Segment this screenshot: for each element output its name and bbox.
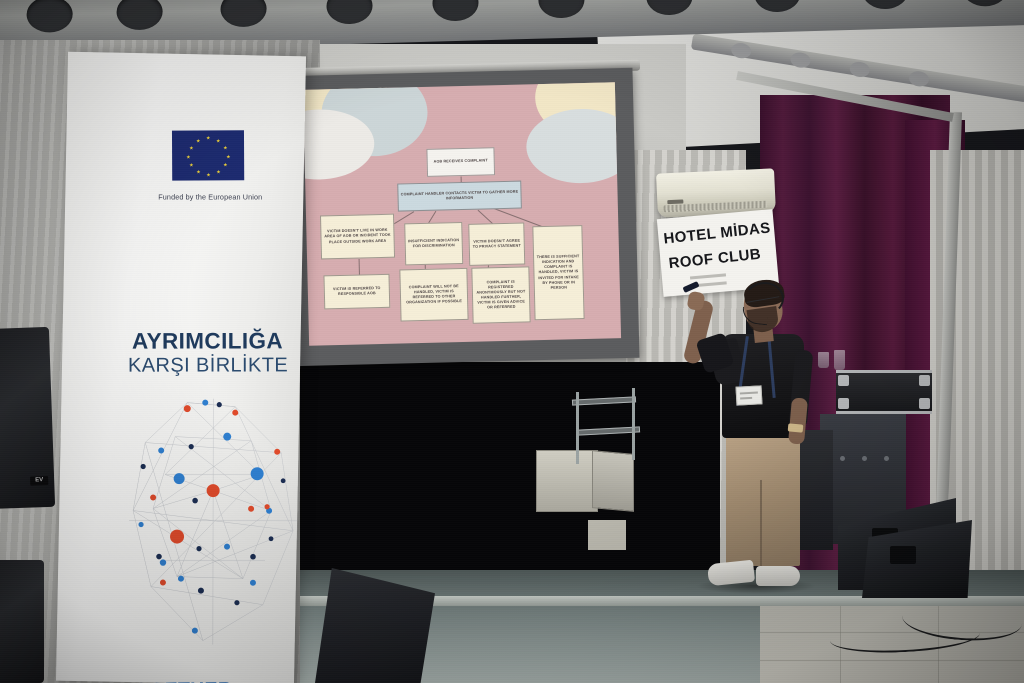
road-case: [836, 370, 932, 414]
hotel-sign-line2: ROOF CLUB: [668, 244, 779, 272]
flow-node-insufficient-indication: INSUFFICIENT INDICATION FOR DISCRIMINATI…: [404, 222, 463, 265]
drinking-glass: [834, 350, 845, 370]
electrical-panel: [536, 450, 598, 512]
shelf-post: [632, 388, 635, 460]
presentation-slide: AOB RECEIVES COMPLAINT COMPLAINT HANDLER…: [303, 82, 621, 346]
presenter-shoe-right: [756, 566, 800, 586]
eu-funded-rollup-banner: ★ ★ ★ ★ ★ ★ ★ ★ ★ ★ ★ ★ Funded by the Eu…: [56, 52, 306, 683]
photo-scene: HOTEL MİDAS ROOF CLUB AOB RECEIVES COMPL…: [0, 0, 1024, 683]
pa-speaker: [0, 560, 44, 683]
stage-backdrop: [300, 362, 720, 592]
speaker-brand-badge: EV: [30, 476, 48, 486]
flow-node-aob-receives-complaint: AOB RECEIVES COMPLAINT: [426, 147, 495, 177]
flow-node-victim-referred-to-responsible-aob: VICTIM IS REFERRED TO RESPONSIBLE AOB: [323, 274, 390, 310]
slide-decor-blob: [525, 108, 621, 185]
shelf-post: [576, 392, 579, 464]
presenter-leg-seam: [760, 480, 762, 568]
flow-connector: [359, 259, 360, 275]
hotel-sign-line1: HOTEL MİDAS: [663, 219, 772, 247]
flow-node-sufficient-indication-handled: THERE IS SUFFICIENT INDICATION AND COMPL…: [532, 225, 584, 320]
pa-speaker: EV: [0, 327, 55, 509]
drinking-glass: [818, 352, 829, 368]
network-globe-graphic: [125, 390, 301, 652]
name-badge: [736, 385, 763, 405]
flow-node-complaint-handler-contacts-victim: COMPLAINT HANDLER CONTACTS VICTIM TO GAT…: [397, 181, 522, 212]
flow-node-victim-outside-work-area: VICTIM DOESN'T LIVE IN WORK AREA OF AOB …: [320, 214, 395, 260]
presenter-trousers: [726, 432, 800, 566]
eu-funding-caption: Funded by the European Union: [145, 193, 275, 202]
electrical-subpanel: [588, 520, 626, 550]
flow-node-victim-declines-privacy-statement: VICTIM DOESN'T AGREE TO PRIVACY STATEMEN…: [468, 222, 525, 265]
banner-footer-line1: TOGETHER: [122, 678, 306, 683]
banner-title-line2: KARŞI BİRLİKTE: [108, 354, 306, 377]
banner-title-line1: AYRIMCILIĞA: [113, 328, 303, 354]
ac-brand-badge: [667, 199, 683, 204]
electrical-panel-door: [592, 450, 634, 512]
wristwatch: [788, 423, 804, 432]
eu-flag-icon: ★ ★ ★ ★ ★ ★ ★ ★ ★ ★ ★ ★: [172, 130, 244, 180]
flow-node-complaint-registered-anonymously: COMPLAINT IS REGISTERED ANONYMOUSLY BUT …: [471, 266, 530, 323]
wedge-handle: [890, 546, 916, 564]
flow-node-complaint-not-handled-referred: COMPLAINT WILL NOT BE HANDLED, VICTIM IS…: [399, 268, 468, 322]
